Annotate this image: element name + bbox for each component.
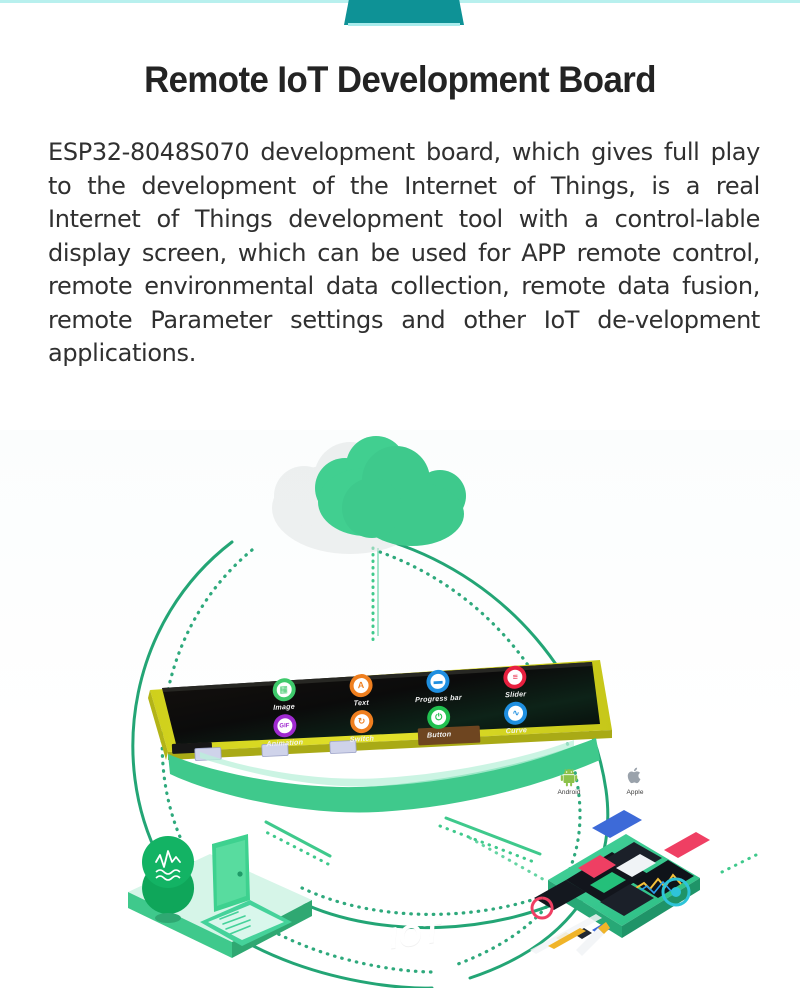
product-description: ESP32-8048S070 development board, which …	[48, 136, 760, 371]
door-panel-icon	[212, 834, 250, 912]
sensor-platform-scene	[128, 834, 312, 958]
floating-tile-right	[664, 832, 710, 858]
board-ribbon-connector	[418, 726, 481, 746]
top-banner-tab	[344, 0, 464, 25]
floating-tile-top	[592, 810, 642, 838]
development-board	[148, 660, 612, 761]
page-title: Remote IoT Development Board	[24, 59, 776, 101]
product-illustration: IOT	[0, 430, 800, 988]
mobile-app-cluster	[440, 810, 762, 956]
product-feature-page: Remote IoT Development Board ESP32-8048S…	[0, 0, 800, 988]
top-banner-tab-underline	[348, 23, 460, 26]
iot-cloud-icon	[272, 436, 466, 554]
platform-links	[262, 822, 330, 864]
